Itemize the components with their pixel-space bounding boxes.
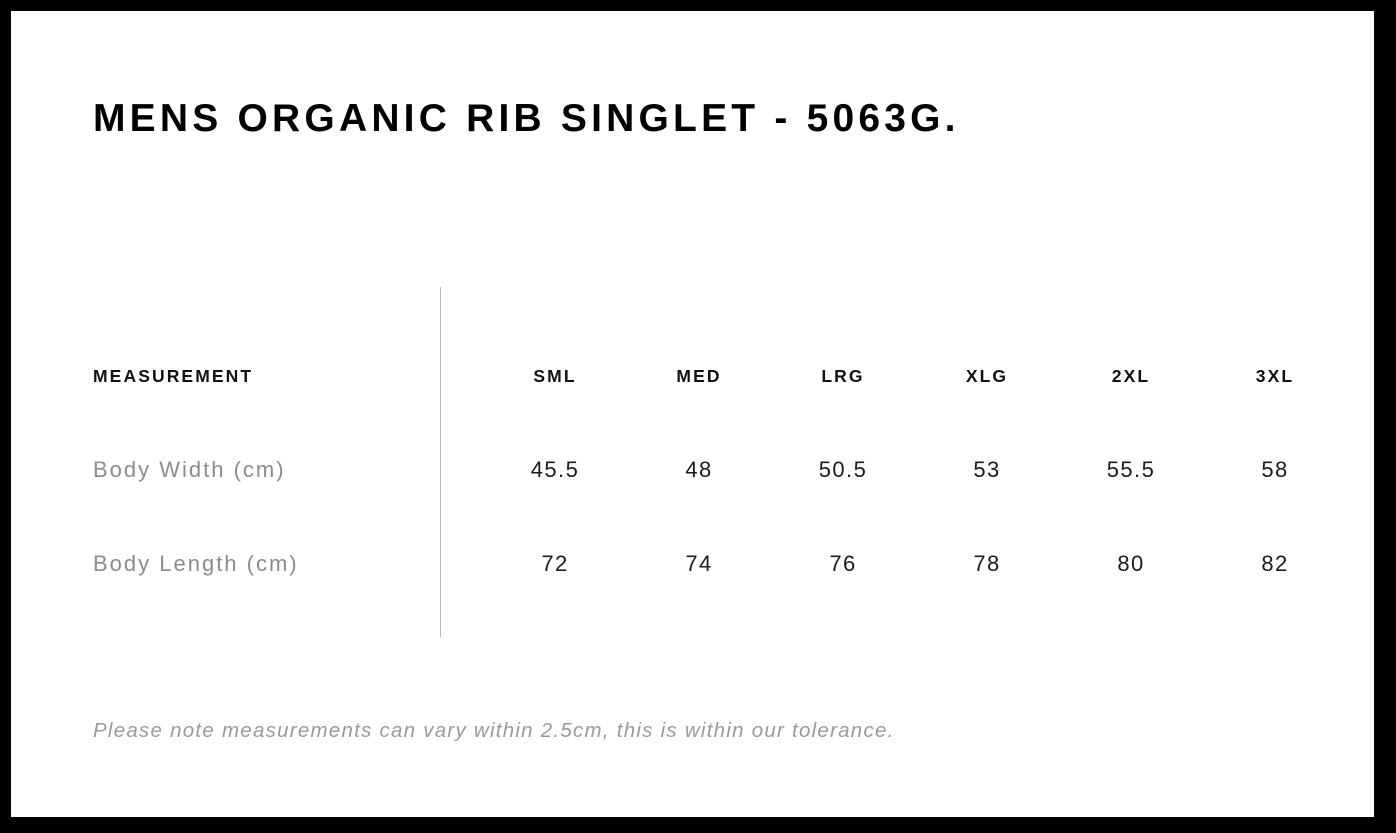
cell-body-length-lrg: 76 — [771, 544, 915, 584]
table-row: Body Width (cm) 45.5 48 50.5 53 55.5 58 — [11, 450, 1374, 490]
column-header-2xl: 2XL — [1059, 356, 1203, 396]
cell-body-width-2xl: 55.5 — [1059, 450, 1203, 490]
table-row: Body Length (cm) 72 74 76 78 80 82 — [11, 544, 1374, 584]
cell-body-width-med: 48 — [627, 450, 771, 490]
cell-body-length-sml: 72 — [483, 544, 627, 584]
column-header-sml: SML — [483, 356, 627, 396]
row-label-body-length: Body Length (cm) — [93, 544, 299, 584]
cell-body-length-xlg: 78 — [915, 544, 1059, 584]
tolerance-note: Please note measurements can vary within… — [93, 717, 895, 746]
column-header-xlg: XLG — [915, 356, 1059, 396]
size-chart-card: MENS ORGANIC RIB SINGLET - 5063G. MEASUR… — [11, 11, 1374, 817]
table-header-row: MEASUREMENT SML MED LRG XLG 2XL 3XL — [11, 356, 1374, 396]
column-header-3xl: 3XL — [1203, 356, 1347, 396]
cell-body-length-med: 74 — [627, 544, 771, 584]
cell-body-width-3xl: 58 — [1203, 450, 1347, 490]
cell-body-length-2xl: 80 — [1059, 544, 1203, 584]
cell-body-length-3xl: 82 — [1203, 544, 1347, 584]
cell-body-width-lrg: 50.5 — [771, 450, 915, 490]
column-header-measurement: MEASUREMENT — [93, 356, 253, 396]
page-frame: MENS ORGANIC RIB SINGLET - 5063G. MEASUR… — [0, 0, 1396, 833]
column-header-med: MED — [627, 356, 771, 396]
size-chart-table: MEASUREMENT SML MED LRG XLG 2XL 3XL Body… — [11, 11, 1374, 817]
column-header-lrg: LRG — [771, 356, 915, 396]
cell-body-width-sml: 45.5 — [483, 450, 627, 490]
row-label-body-width: Body Width (cm) — [93, 450, 286, 490]
cell-body-width-xlg: 53 — [915, 450, 1059, 490]
